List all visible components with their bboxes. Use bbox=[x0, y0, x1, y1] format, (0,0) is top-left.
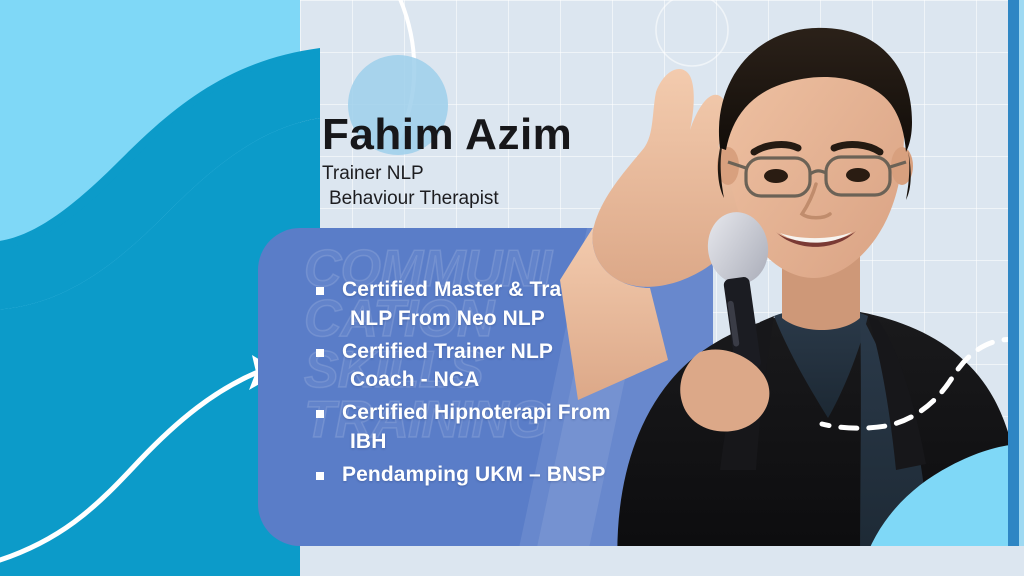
square-bullet-icon bbox=[316, 410, 324, 418]
eye-right bbox=[846, 168, 870, 182]
speaker-photo bbox=[560, 0, 1024, 576]
right-edge-strip-outer bbox=[1019, 0, 1024, 576]
square-bullet-icon bbox=[316, 349, 324, 357]
square-bullet-icon bbox=[316, 287, 324, 295]
speaker-role-line-1: Trainer NLP bbox=[322, 163, 424, 184]
bottom-bar bbox=[300, 546, 1024, 576]
slide-canvas: Fahim Azim Trainer NLP Behaviour Therapi… bbox=[0, 0, 1024, 576]
square-bullet-icon bbox=[316, 472, 324, 480]
credential-line-1: Certified Trainer NLP bbox=[342, 340, 553, 363]
eye-left bbox=[764, 169, 788, 183]
